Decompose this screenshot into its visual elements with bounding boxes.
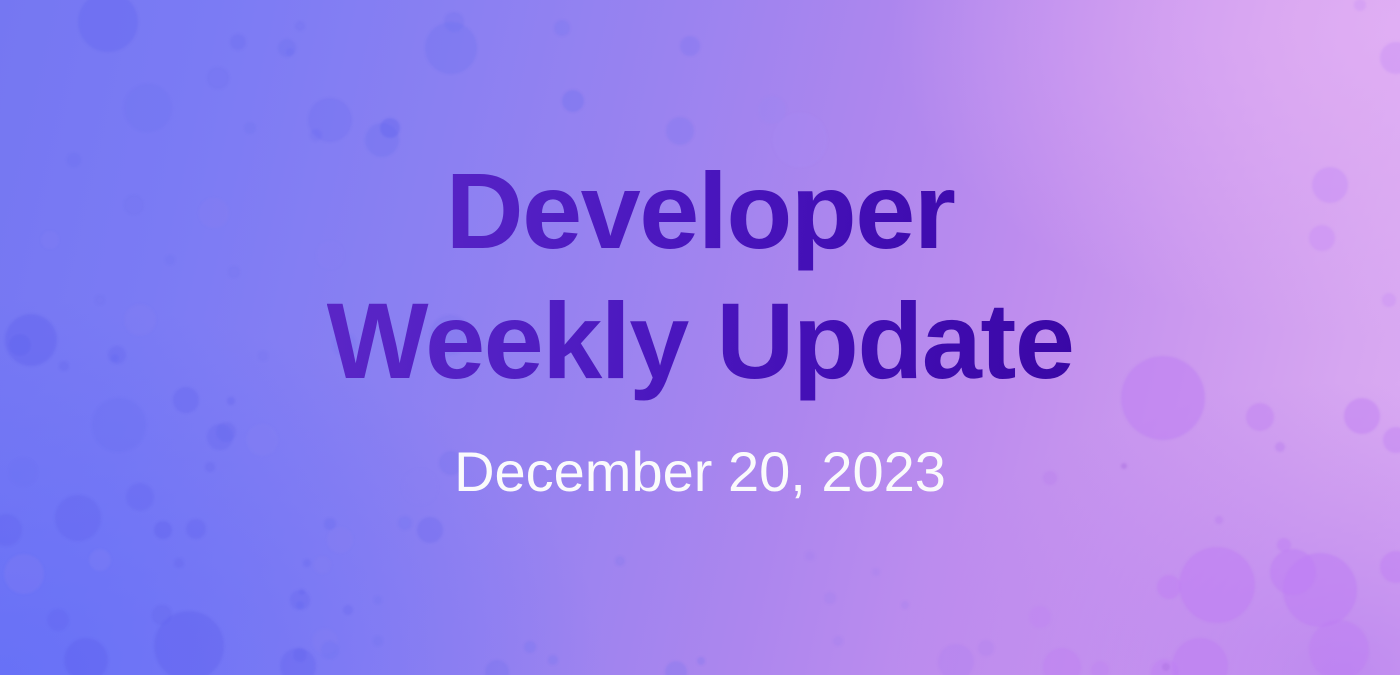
issue-date: December 20, 2023 [454,439,946,504]
newsletter-banner: Developer Weekly Update December 20, 202… [0,0,1400,675]
page-title: Developer Weekly Update [327,146,1074,405]
page-title-line-1: Developer [327,146,1074,276]
banner-content: Developer Weekly Update December 20, 202… [0,0,1400,675]
page-title-line-2: Weekly Update [327,276,1074,406]
